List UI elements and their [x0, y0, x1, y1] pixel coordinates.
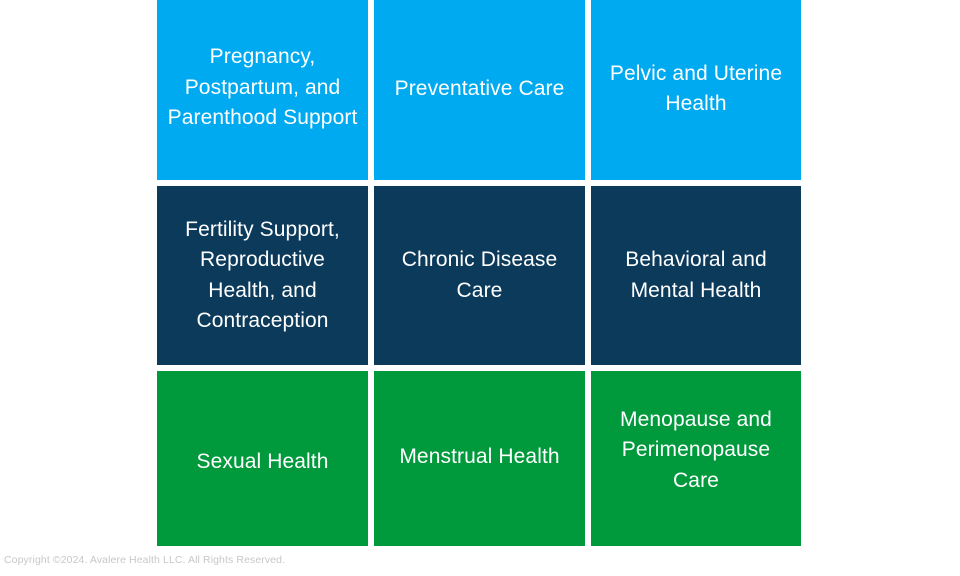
grid-cell-label: Sexual Health — [167, 447, 358, 477]
grid-cell-menstrual-health[interactable]: Menstrual Health — [374, 371, 585, 546]
grid-cell-behavioral-mental-health[interactable]: Behavioral and Mental Health — [591, 186, 801, 365]
grid-cell-label: Fertility Support, Reproductive Health, … — [167, 215, 358, 337]
grid-cell-label: Preventative Care — [384, 74, 575, 104]
footer: Copyright ©2024. Avalere Health LLC. All… — [4, 554, 604, 567]
grid-cell-pelvic-uterine-health[interactable]: Pelvic and Uterine Health — [591, 0, 801, 180]
grid-cell-fertility-reproductive-contraception[interactable]: Fertility Support, Reproductive Health, … — [157, 186, 368, 365]
grid-cell-label: Pregnancy, Postpartum, and Parenthood Su… — [167, 42, 358, 133]
grid-cell-chronic-disease-care[interactable]: Chronic Disease Care — [374, 186, 585, 365]
category-grid: Pregnancy, Postpartum, and Parenthood Su… — [157, 0, 803, 546]
grid-cell-preventative-care[interactable]: Preventative Care — [374, 0, 585, 180]
grid-cell-pregnancy-postpartum-parenthood-support[interactable]: Pregnancy, Postpartum, and Parenthood Su… — [157, 0, 368, 180]
grid-cell-label: Menopause and Perimenopause Care — [601, 405, 791, 496]
grid-cell-label: Pelvic and Uterine Health — [601, 59, 791, 120]
grid-cell-label: Chronic Disease Care — [384, 245, 575, 306]
grid-cell-sexual-health[interactable]: Sexual Health — [157, 371, 368, 546]
diagram-canvas: Pregnancy, Postpartum, and Parenthood Su… — [157, 0, 803, 546]
grid-cell-menopause-perimenopause-care[interactable]: Menopause and Perimenopause Care — [591, 371, 801, 546]
copyright-notice: Copyright ©2024. Avalere Health LLC. All… — [4, 554, 604, 567]
grid-cell-label: Behavioral and Mental Health — [601, 245, 791, 306]
grid-cell-label: Menstrual Health — [384, 442, 575, 472]
